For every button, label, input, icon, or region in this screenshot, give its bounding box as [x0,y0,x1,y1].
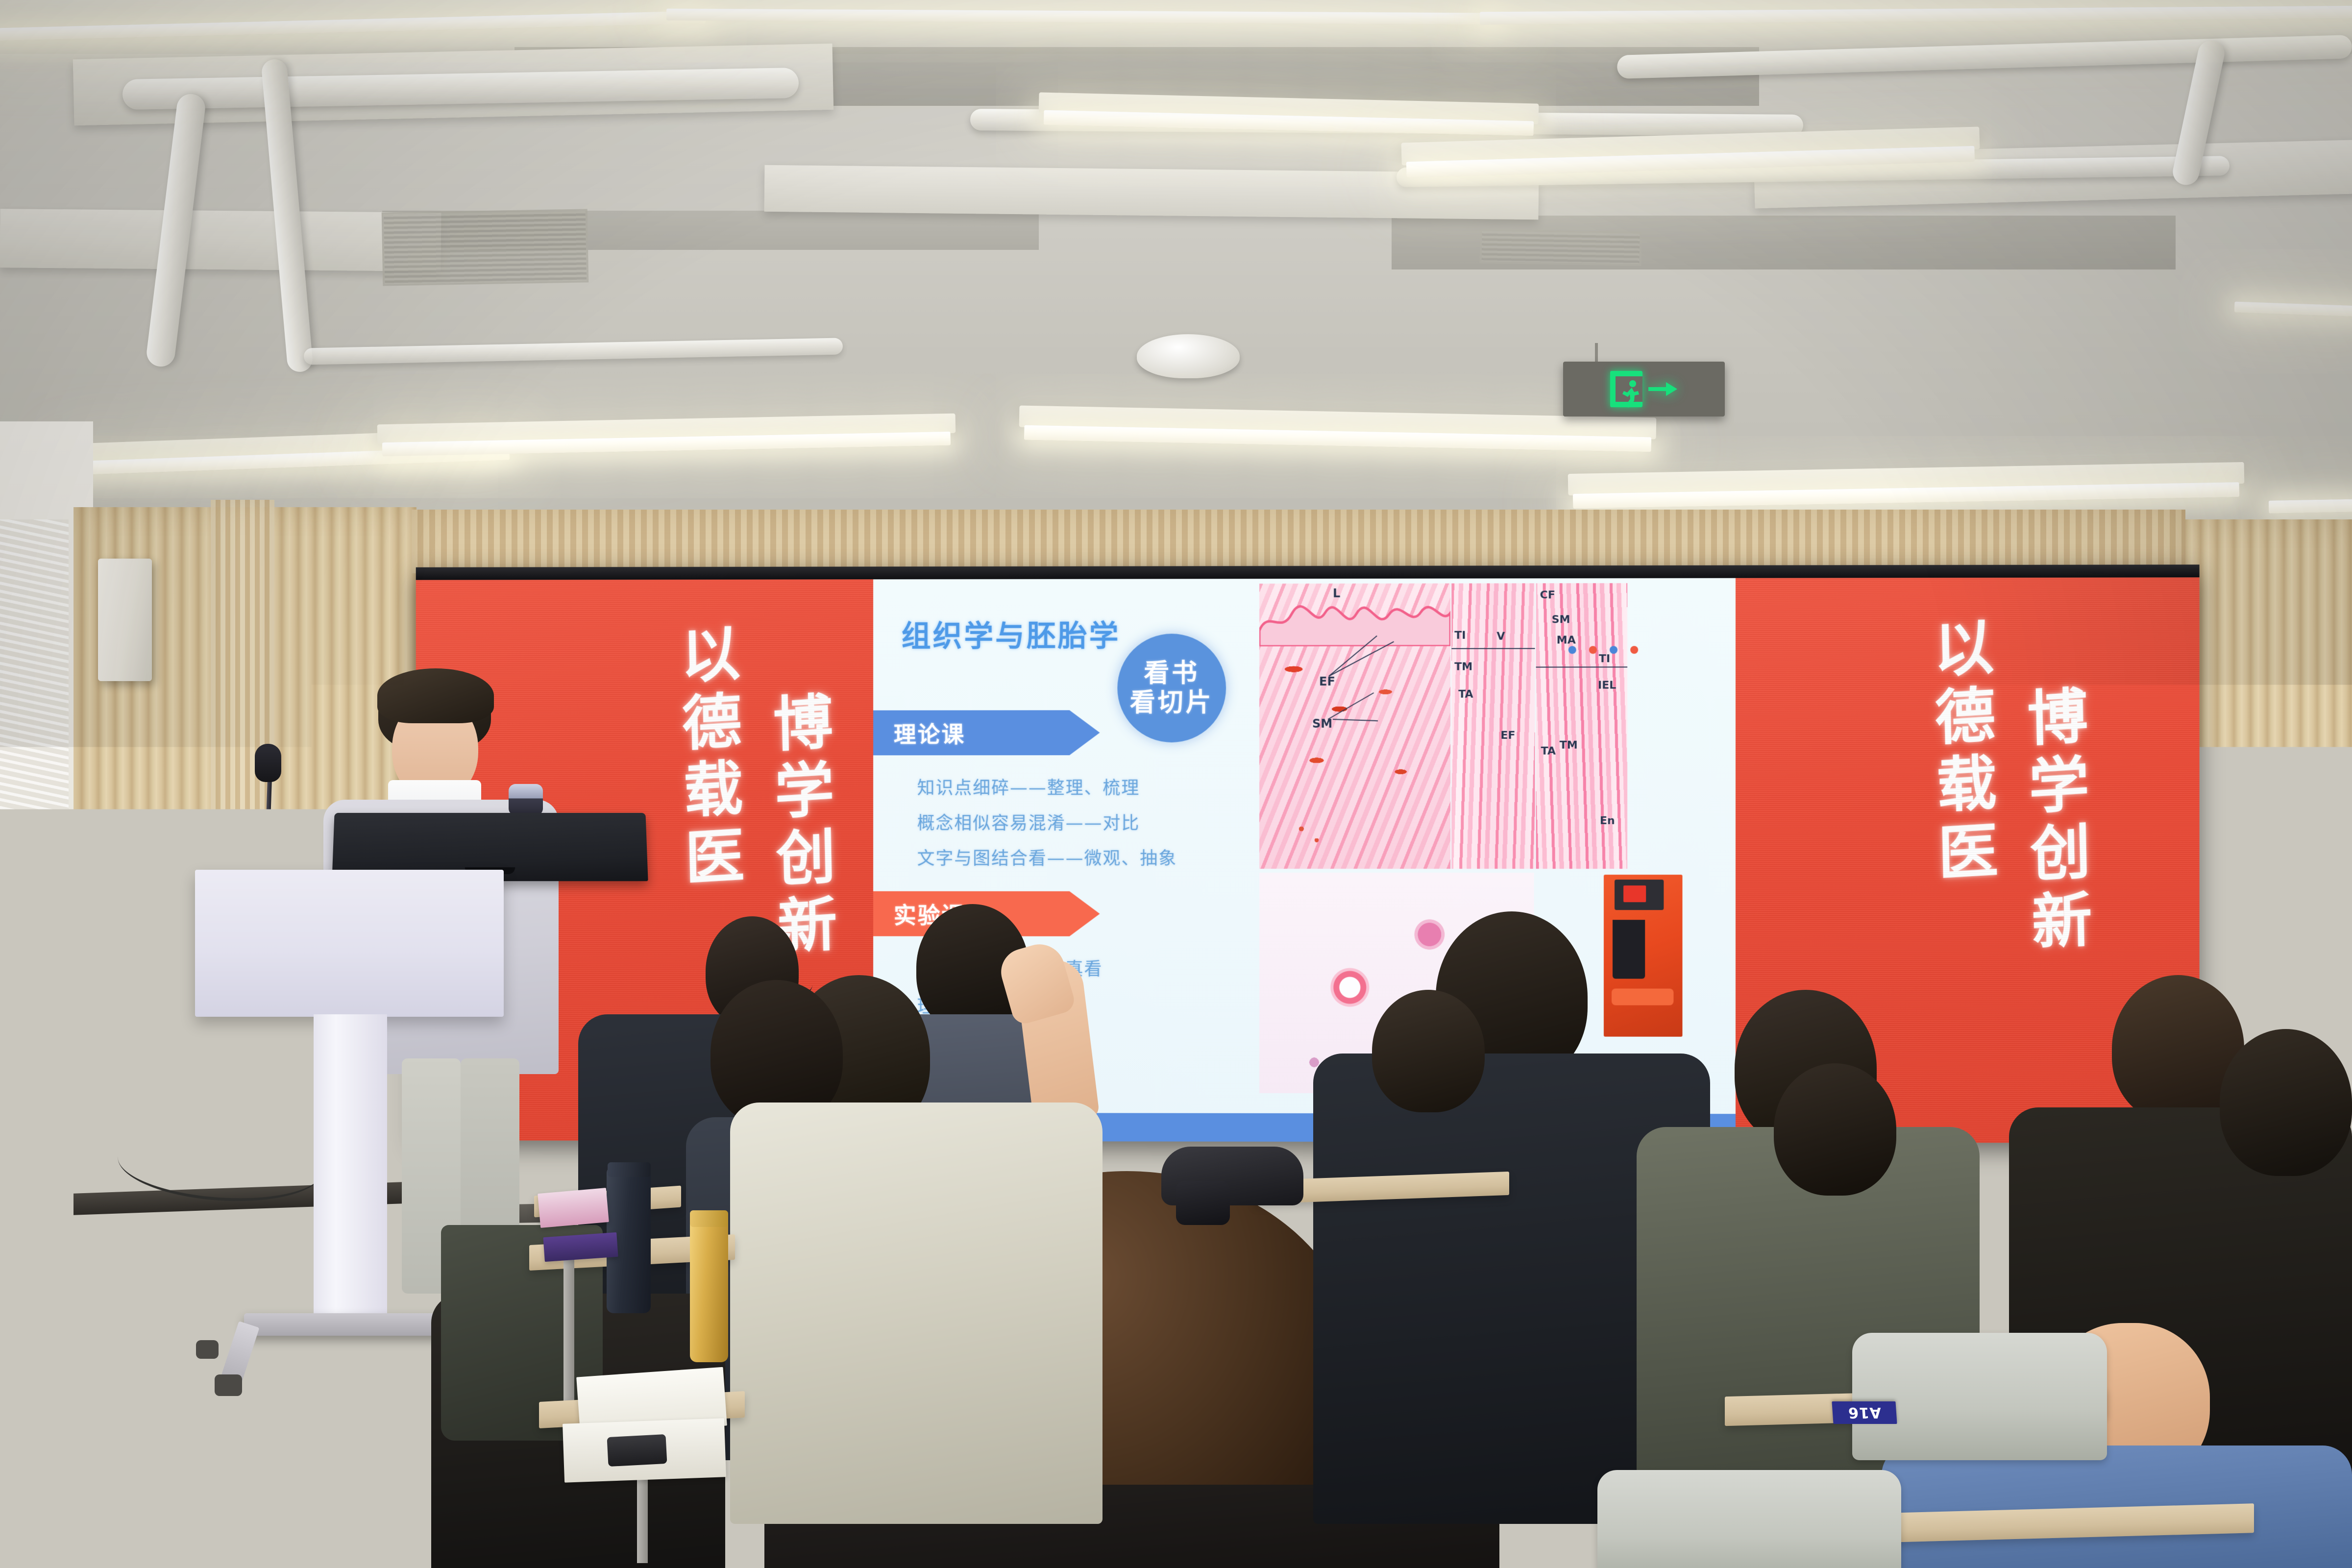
histology-lumen-edge [1259,584,1450,647]
stage-step [0,1427,480,1552]
thermos-gold-cap [690,1210,728,1227]
slide-badge-line1: 看书 [1144,659,1200,688]
histology-label-L: L [1333,587,1340,600]
slide-title: 组织学与胚胎学 [902,612,1121,655]
histology-label-MA: MA [1557,634,1576,646]
desk-leg-1 [563,1259,574,1406]
phone-on-desk [607,1434,667,1467]
podium-base [244,1313,455,1336]
wood-header-band [412,510,2185,573]
histology-panel-c: CF SM MA TI IEL TM TA En [1536,583,1628,869]
audience-body-11-vest [730,1102,1102,1524]
thermos-dark-cap [608,1162,651,1177]
microphone-head [255,744,281,782]
presenter-hair-top [377,668,494,723]
chair-back-1 [1852,1333,2107,1460]
slide-bullet-blue-1: 知识点细碎——整理、梳理 [917,774,1140,799]
book-pink [538,1188,609,1228]
ceiling-vent-2 [1479,229,1641,266]
wall-speaker [98,559,152,681]
lecture-hall-photo: 以德载医 博学创新 组织学与胚胎学 理论课 知识点细碎——整理、梳理 概念相似容… [0,0,2352,1568]
seat-number-tag: A16 [1832,1401,1897,1424]
histology-label-TA-2: TA [1541,745,1556,758]
wall-relief-art [0,519,69,1009]
calligraphy-right-col-right: 以德载医 [1915,614,2008,891]
audience-head-5 [1372,990,1485,1112]
podium-desk [195,870,504,1017]
audience-head-9 [2220,1029,2352,1176]
histology-label-IEL: IEL [1598,679,1616,691]
ceiling-vent [382,209,589,286]
ceiling-dome-speaker [1137,334,1240,378]
histology-label-TI-2: TI [1599,653,1610,665]
histology-label-SM-2: SM [1552,613,1570,626]
ceiling-led-g [2269,499,2352,513]
microscope-photo [1604,875,1683,1037]
histology-panel-b: TI TM TA V EF [1451,583,1535,869]
calligraphy-right-col-left: 博学创新 [2009,684,2102,960]
histology-label-TA: TA [1458,688,1473,701]
chair-back-2 [1597,1470,1901,1568]
ceiling-duct-4 [0,209,441,271]
slide-bullet-blue-3: 文字与图结合看——微观、抽象 [917,844,1177,870]
calligraphy-left-col-right: 以德载医 [662,621,754,895]
histology-label-CF: CF [1540,589,1555,601]
exit-sign [1563,362,1725,416]
wall-whiteboard [0,970,73,1127]
histology-label-TM: TM [1454,661,1472,673]
exit-arrow-right-icon [1648,381,1678,397]
slide-section-theory-label: 理论课 [873,717,965,749]
handheld-microphone [509,784,543,815]
floor-cable-1 [167,1274,314,1303]
slide-accent-dots [1568,646,1638,654]
thermos-gold [690,1215,728,1362]
book-purple [543,1232,618,1262]
podium-column [314,1014,387,1323]
audience-head-7 [1774,1063,1896,1196]
slide-badge-line2: 看切片 [1130,688,1214,717]
slide-bullet-blue-2: 概念相似容易混淆——对比 [917,809,1140,834]
histology-label-TM-2: TM [1560,739,1578,752]
histology-label-V: V [1496,631,1505,643]
podium-caster-left [215,1374,242,1396]
podium-caster-rear [196,1340,219,1359]
chair-back-3 [725,1480,1000,1568]
histology-label-En: En [1600,815,1615,827]
exit-running-person-icon [1619,379,1642,410]
slide-section-theory: 理论课 [873,710,1100,755]
histology-label-TI: TI [1454,630,1466,642]
headset-earcup [1176,1181,1230,1225]
exit-door-icon [1610,371,1642,407]
histology-label-EF: EF [1319,675,1335,688]
histology-panel-a: L EF SM [1259,584,1450,869]
slide-badge: 看书 看切片 [1117,634,1226,742]
histology-label-EF-2: EF [1500,730,1515,742]
